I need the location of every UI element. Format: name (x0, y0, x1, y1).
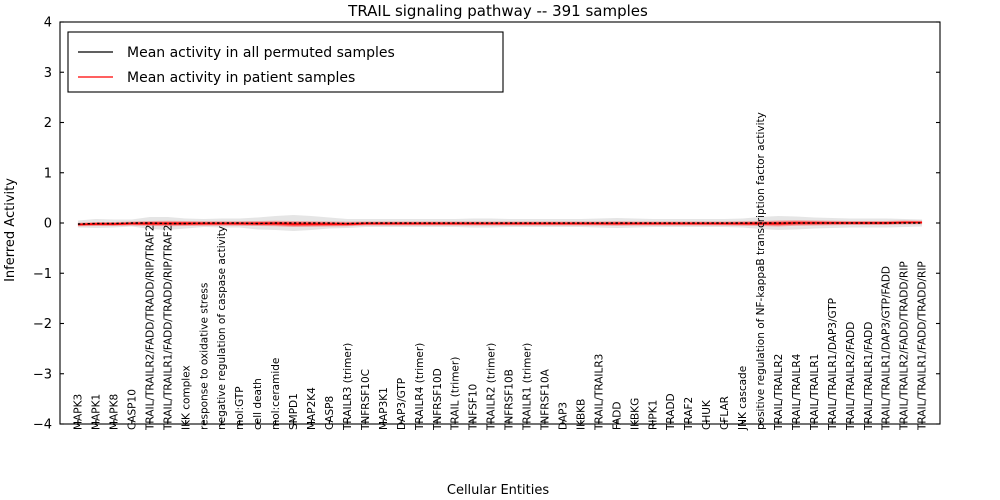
x-tick-label: TRAILR2 (trimer) (486, 343, 498, 431)
x-tick-label: TRAIL/TRAILR2/FADD/TRADD/RIP/TRAF2 (144, 225, 156, 431)
x-tick-label: MAP2K4 (306, 387, 318, 430)
x-tick-label: TRAILR3 (trimer) (342, 343, 354, 431)
chart-canvas: TRAIL signaling pathway -- 391 samples I… (0, 0, 1000, 500)
x-tick-label: DAP3/GTP (396, 378, 408, 430)
x-tick-label: RIPK1 (647, 400, 659, 430)
x-tick-label: IKK complex (180, 365, 192, 430)
x-tick-label: TRAIL/TRAILR1/FADD (863, 322, 875, 431)
x-tick-label: MAP3K1 (378, 387, 390, 430)
chart-title: TRAIL signaling pathway -- 391 samples (347, 2, 648, 20)
x-tick-label: TRAIL/TRAILR2/FADD (845, 322, 857, 431)
x-tick-label: TRAIL/TRAILR1/FADD/TRADD/RIP (917, 261, 929, 431)
x-tick-label: TRAIL/TRAILR4 (791, 353, 803, 431)
chart-legend: Mean activity in all permuted samples Me… (68, 32, 503, 92)
x-tick-label: CASP10 (126, 389, 138, 430)
x-tick-label: response to oxidative stress (198, 283, 210, 430)
x-tick-label: mol:GTP (234, 386, 246, 430)
x-tick-label: CHUK (701, 399, 713, 430)
x-axis-label: Cellular Entities (447, 483, 549, 498)
x-tick-label: TRAF2 (683, 397, 695, 431)
y-tick-label: 1 (44, 166, 52, 181)
legend-label-permuted: Mean activity in all permuted samples (127, 45, 395, 61)
x-tick-label: CASP8 (324, 396, 336, 430)
x-tick-label: MAPK3 (73, 394, 85, 430)
x-tick-label: TNFRSF10C (360, 369, 372, 431)
x-tick-label: positive regulation of NF-kappaB transcr… (755, 112, 767, 430)
x-tick-label: TRADD (665, 393, 677, 431)
x-tick-label: negative regulation of caspase activity (216, 226, 228, 430)
x-tick-label: TNFRSF10B (504, 369, 516, 431)
y-tick-label: 4 (44, 16, 52, 31)
x-tick-label: TNFRSF10A (539, 368, 551, 431)
x-tick-label: CFLAR (719, 396, 731, 430)
x-tick-label: TRAIL/TRAILR1/FADD/TRADD/RIP/TRAF2 (162, 225, 174, 431)
y-tick-label: 3 (44, 66, 52, 81)
x-tick-label: TRAIL/TRAILR2/FADD/TRADD/RIP (899, 261, 911, 431)
x-tick-label: TRAIL/TRAILR1 (809, 354, 821, 431)
x-tick-label: TRAILR4 (trimer) (414, 343, 426, 431)
x-tick-label: TNFSF10 (468, 384, 480, 431)
x-tick-label: IKBKB (575, 399, 587, 430)
y-axis-label: Inferred Activity (3, 178, 18, 282)
x-tick-label: cell death (252, 378, 264, 430)
y-tick-label: −2 (33, 317, 52, 332)
x-tick-label: JNK cascade (737, 366, 749, 431)
x-tick-label: MAPK1 (91, 394, 103, 430)
x-tick-label: FADD (611, 402, 623, 430)
x-tick-label: TNFRSF10D (432, 368, 444, 431)
chart-figure: TRAIL signaling pathway -- 391 samples I… (0, 0, 1000, 500)
x-tick-label: TRAIL/TRAILR1/DAP3/GTP/FADD (881, 266, 893, 431)
x-tick-label: IKBKG (629, 398, 641, 430)
x-tick-label: TRAILR1 (trimer) (522, 343, 534, 431)
y-tick-label: 0 (44, 217, 52, 232)
x-tick-label: DAP3 (557, 402, 569, 430)
x-tick-label: TRAIL/TRAILR1/DAP3/GTP (827, 298, 839, 431)
y-tick-label: −3 (33, 367, 52, 382)
y-tick-label: −4 (33, 418, 52, 433)
x-tick-label: MAPK8 (108, 394, 120, 430)
x-tick-label: TRAIL (trimer) (450, 357, 462, 431)
x-tick-label: TRAIL/TRAILR2 (773, 354, 785, 431)
legend-label-patient: Mean activity in patient samples (127, 70, 355, 86)
y-tick-label: −1 (33, 267, 52, 282)
x-tick-label: mol:ceramide (270, 358, 282, 430)
x-tick-label: TRAIL/TRAILR3 (593, 354, 605, 431)
y-tick-label: 2 (44, 116, 52, 131)
x-tick-label: SMPD1 (288, 393, 300, 430)
